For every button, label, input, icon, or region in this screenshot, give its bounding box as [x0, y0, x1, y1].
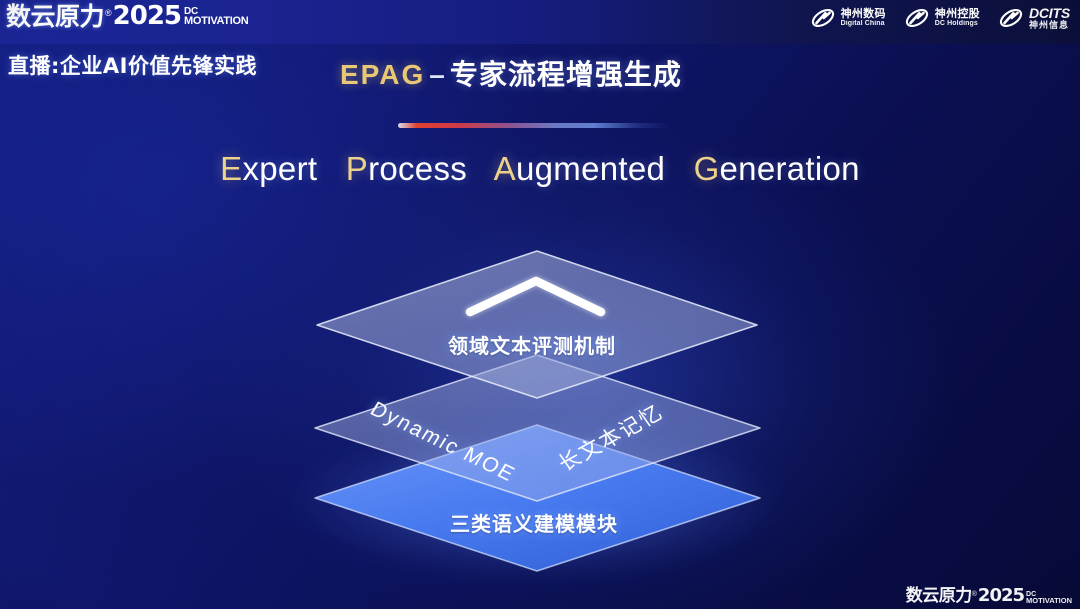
stack-layer-middle: [315, 355, 760, 501]
subtitle-word-2: Process: [346, 150, 467, 187]
logo-dcits: DCITS 神州信息: [998, 5, 1070, 31]
brand-motivation-label: MOTIVATION: [184, 16, 248, 27]
watermark-name-cn: 数云原力: [906, 588, 972, 605]
headline-dash: –: [429, 59, 446, 90]
brand-name-cn: 数云原力: [6, 4, 104, 29]
stack-layer-bottom-label: 三类语义建模模块: [450, 508, 618, 537]
subtitle-word-3: Augmented: [494, 150, 666, 187]
stack-layer-middle-label-left: Dynamic MOE: [366, 398, 520, 487]
logo-name-cn: DCITS: [1029, 6, 1070, 21]
subtitle-english: Expert Process Augmented Generation: [0, 150, 1080, 188]
headline-chinese: 专家流程增强生成: [450, 58, 682, 91]
swirl-icon: [998, 5, 1024, 31]
registered-mark-icon: ®: [105, 8, 112, 18]
watermark-dc-motivation: DC MOTIVATION: [1026, 591, 1072, 605]
subtitle-rest: ugmented: [516, 150, 665, 187]
logo-name-en: Digital China: [841, 20, 886, 27]
swirl-icon: [904, 5, 930, 31]
subtitle-initial: P: [346, 150, 368, 187]
subtitle-space: [327, 150, 336, 187]
registered-mark-icon: ®: [972, 591, 977, 598]
slide-canvas: 数云原力 ® 2025 DC MOTIVATION 神州数码 Digital C…: [0, 0, 1080, 609]
logo-name-en: 神州信息: [1029, 21, 1070, 30]
watermark-year: 2025: [978, 587, 1024, 605]
stack-layer-top: [317, 251, 757, 398]
swirl-icon: [810, 5, 836, 31]
live-stream-title: 直播:企业AI价值先锋实践: [8, 50, 257, 80]
subtitle-space: [477, 150, 486, 187]
brand-year: 2025: [113, 3, 181, 29]
logo-name-cn: 神州控股: [935, 9, 980, 21]
gradient-divider: [398, 123, 670, 128]
page-title: EPAG–专家流程增强生成: [340, 53, 682, 93]
subtitle-initial: A: [494, 150, 516, 187]
subtitle-space: [675, 150, 684, 187]
subtitle-rest: rocess: [368, 150, 467, 187]
subtitle-initial: G: [694, 150, 720, 187]
subtitle-rest: eneration: [720, 150, 860, 187]
logo-dc-holdings: 神州控股 DC Holdings: [904, 5, 980, 31]
partner-logo-group: 神州数码 Digital China 神州控股 DC Holdings: [810, 5, 1070, 31]
logo-text: 神州控股 DC Holdings: [935, 9, 980, 28]
chevron-up-icon: [470, 281, 601, 312]
subtitle-word-1: Expert: [220, 150, 317, 187]
watermark-logo: 数云原力 ® 2025 DC MOTIVATION: [906, 587, 1072, 605]
brand-dc-motivation: DC MOTIVATION: [184, 7, 248, 27]
logo-text: 神州数码 Digital China: [841, 9, 886, 28]
logo-name-cn: 神州数码: [841, 9, 886, 21]
subtitle-word-4: Generation: [694, 150, 860, 187]
logo-digital-china: 神州数码 Digital China: [810, 5, 886, 31]
stack-layer-middle-label-right: 长文本记忆: [551, 397, 669, 477]
stack-layer-bottom: [315, 425, 760, 571]
logo-name-en: DC Holdings: [935, 20, 980, 27]
watermark-motivation-label: MOTIVATION: [1026, 597, 1072, 605]
subtitle-initial: E: [220, 150, 242, 187]
brand-logo-top: 数云原力 ® 2025 DC MOTIVATION: [6, 3, 248, 29]
subtitle-rest: xpert: [242, 150, 317, 187]
logo-text: DCITS 神州信息: [1029, 6, 1070, 30]
stack-layer-top-label: 领域文本评测机制: [448, 330, 616, 359]
headline-acronym: EPAG: [340, 59, 425, 90]
